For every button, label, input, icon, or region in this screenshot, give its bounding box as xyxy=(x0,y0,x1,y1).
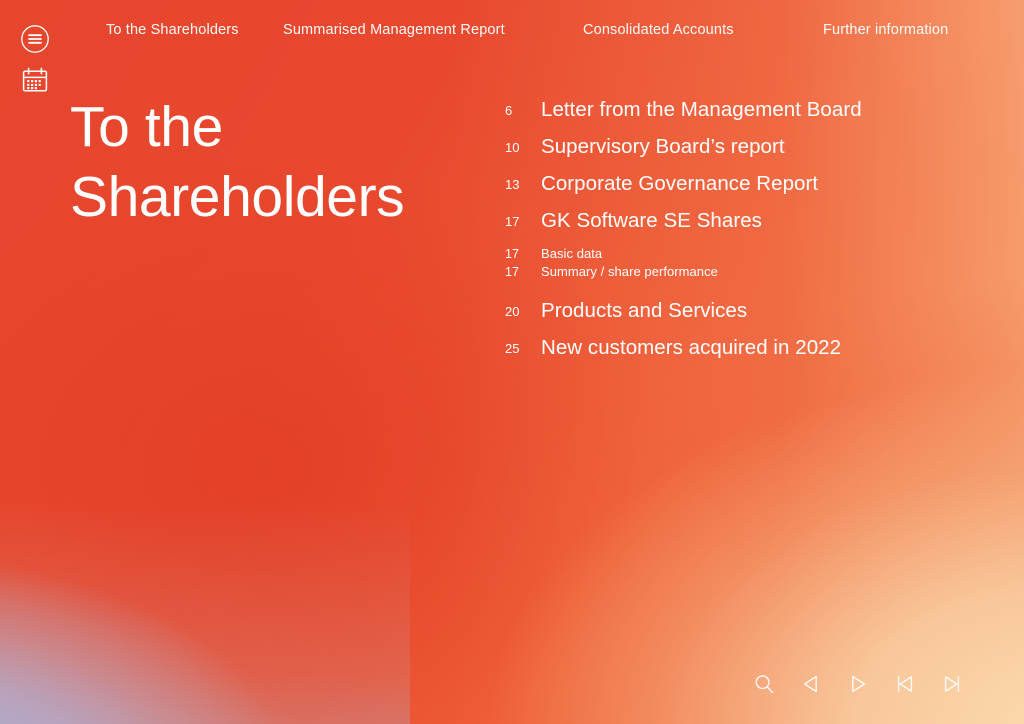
toc-page-number: 17 xyxy=(505,247,541,261)
toc-entry-label: Letter from the Management Board xyxy=(541,98,862,122)
toc-entry-label: New customers acquired in 2022 xyxy=(541,336,841,360)
toc-entry-label: Corporate Governance Report xyxy=(541,172,818,196)
toc-entry-label: Basic data xyxy=(541,246,602,261)
table-of-contents: 6 Letter from the Management Board 10 Su… xyxy=(505,98,985,373)
last-page-button[interactable] xyxy=(938,670,966,698)
toc-page-number: 17 xyxy=(505,265,541,279)
toc-page-number: 17 xyxy=(505,214,541,229)
triangle-right-icon xyxy=(847,673,869,695)
search-button[interactable] xyxy=(750,670,778,698)
toc-spacer xyxy=(505,282,985,299)
toc-entry[interactable]: 17 GK Software SE Shares xyxy=(505,209,985,246)
search-icon xyxy=(753,673,775,695)
toc-sub-entry[interactable]: 17 Basic data xyxy=(505,246,985,264)
top-navigation: To the Shareholders Summarised Managemen… xyxy=(0,0,1024,60)
nav-to-the-shareholders[interactable]: To the Shareholders xyxy=(106,22,239,38)
nav-summarised-management-report[interactable]: Summarised Management Report xyxy=(283,22,505,38)
nav-consolidated-accounts[interactable]: Consolidated Accounts xyxy=(583,22,734,38)
previous-page-button[interactable] xyxy=(797,670,825,698)
next-page-button[interactable] xyxy=(844,670,872,698)
toc-entry-label: GK Software SE Shares xyxy=(541,209,762,233)
nav-further-information[interactable]: Further information xyxy=(823,22,948,38)
toc-page-number: 25 xyxy=(505,341,541,356)
toc-page-number: 10 xyxy=(505,140,541,155)
hamburger-menu-button[interactable] xyxy=(20,24,50,54)
page-title-line-1: To the xyxy=(70,95,223,159)
page-root: To the Shareholders Summarised Managemen… xyxy=(0,0,1024,724)
toc-sub-entry[interactable]: 17 Summary / share performance xyxy=(505,264,985,282)
toc-page-number: 6 xyxy=(505,103,541,118)
page-title-line-2: Shareholders xyxy=(70,165,404,229)
toc-entry[interactable]: 25 New customers acquired in 2022 xyxy=(505,336,985,373)
hamburger-menu-icon xyxy=(20,24,50,54)
first-page-button[interactable] xyxy=(891,670,919,698)
toc-entry[interactable]: 20 Products and Services xyxy=(505,299,985,336)
toc-entry[interactable]: 6 Letter from the Management Board xyxy=(505,98,985,135)
toc-entry[interactable]: 10 Supervisory Board’s report xyxy=(505,135,985,172)
toc-entry-label: Summary / share performance xyxy=(541,264,718,279)
calendar-icon xyxy=(21,66,49,94)
toc-entry-label: Supervisory Board’s report xyxy=(541,135,785,159)
toc-entry-label: Products and Services xyxy=(541,299,747,323)
skip-to-end-icon xyxy=(941,673,963,695)
toc-entry[interactable]: 13 Corporate Governance Report xyxy=(505,172,985,209)
page-controls xyxy=(750,670,966,698)
page-title: To the Shareholders xyxy=(70,92,490,232)
toc-page-number: 13 xyxy=(505,177,541,192)
calendar-button[interactable] xyxy=(21,66,49,94)
toc-page-number: 20 xyxy=(505,304,541,319)
skip-to-start-icon xyxy=(894,673,916,695)
triangle-left-icon xyxy=(800,673,822,695)
